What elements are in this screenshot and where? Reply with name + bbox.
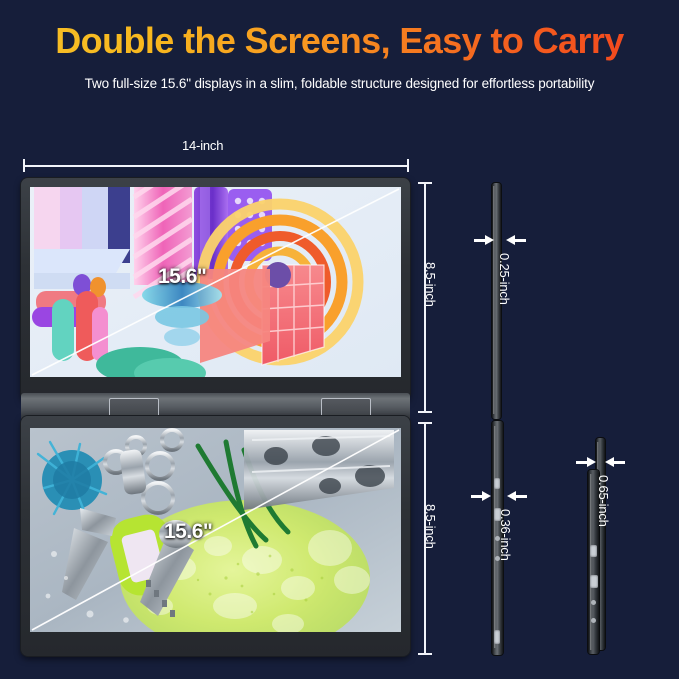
top-display-panel: 15.6" bbox=[21, 178, 410, 400]
usb-c-port-icon bbox=[494, 478, 500, 489]
top-height-cap-bottom bbox=[418, 411, 432, 413]
top-height-dimension-label: 8.5-inch bbox=[423, 262, 438, 307]
arrow-right-icon bbox=[482, 491, 491, 501]
thickness-025-label: 0.25-inch bbox=[497, 253, 512, 305]
audio-jack-icon bbox=[591, 600, 596, 605]
arrow-left-icon bbox=[506, 235, 515, 245]
arrow-right-icon bbox=[587, 457, 596, 467]
width-dimension-line bbox=[23, 165, 409, 167]
infographic-page: Double the Screens, Easy to Carry Two fu… bbox=[0, 0, 679, 679]
width-dimension-label: 14-inch bbox=[182, 138, 223, 153]
hdmi-port-icon bbox=[590, 575, 598, 588]
thickness-036-label: 0.36-inch bbox=[498, 509, 513, 561]
page-subtitle: Two full-size 15.6" displays in a slim, … bbox=[0, 76, 679, 91]
width-dimension-cap-left bbox=[23, 159, 25, 172]
top-screen-artwork bbox=[30, 187, 401, 377]
power-port-icon bbox=[494, 630, 500, 644]
bottom-screen: 15.6" bbox=[30, 428, 401, 632]
arrow-left-icon bbox=[507, 491, 516, 501]
bottom-height-cap-top bbox=[418, 422, 432, 424]
top-screen: 15.6" bbox=[30, 187, 401, 377]
usb-c-port-icon bbox=[590, 545, 597, 557]
top-height-cap-top bbox=[418, 182, 432, 184]
page-title: Double the Screens, Easy to Carry bbox=[0, 20, 679, 62]
bottom-screen-artwork bbox=[30, 428, 401, 632]
bottom-screen-size-badge: 15.6" bbox=[164, 520, 212, 544]
arrow-left-icon bbox=[605, 457, 614, 467]
thickness-065-label: 0.65-inch bbox=[596, 475, 611, 527]
indicator-hole-icon bbox=[591, 618, 596, 623]
bottom-height-dimension-label: 8.5-inch bbox=[423, 504, 438, 549]
bottom-display-panel: 15.6" bbox=[21, 416, 410, 656]
arrow-right-icon bbox=[485, 235, 494, 245]
dual-screen-device-front-view: 15.6" bbox=[21, 178, 410, 656]
width-dimension-cap-right bbox=[407, 159, 409, 172]
top-screen-size-badge: 15.6" bbox=[158, 265, 206, 289]
bottom-height-cap-bottom bbox=[418, 653, 432, 655]
